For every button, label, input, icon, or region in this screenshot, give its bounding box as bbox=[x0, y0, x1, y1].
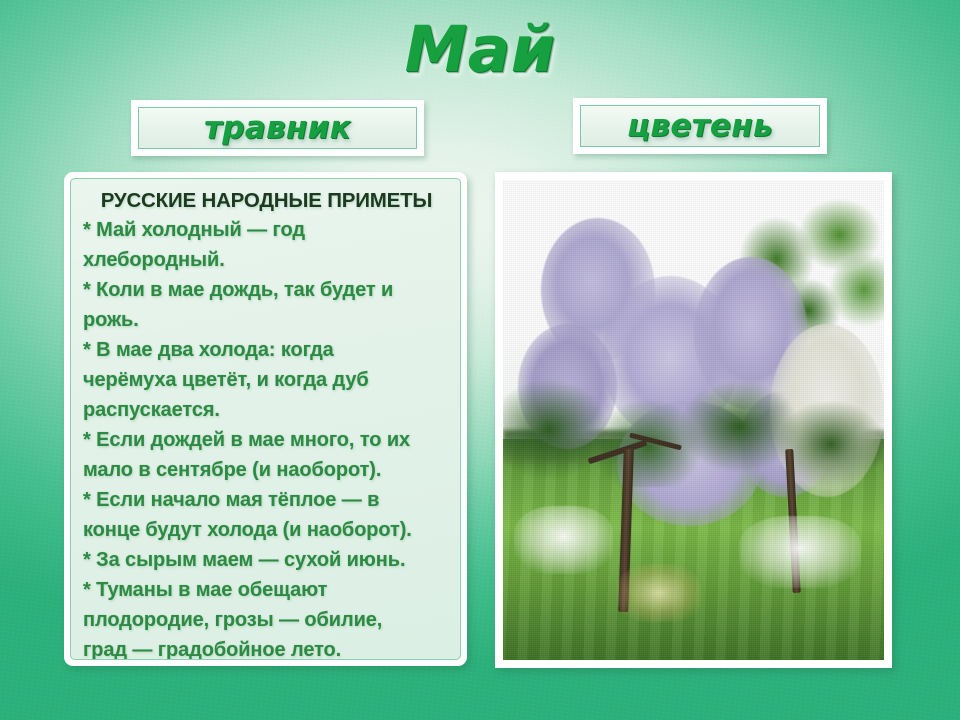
label-box-travnik: травник bbox=[131, 100, 424, 156]
proverb-line: черёмуха цветёт, и когда дуб bbox=[83, 365, 450, 395]
lilac-garden-photo bbox=[503, 180, 884, 660]
proverb-line: хлебородный. bbox=[83, 245, 450, 275]
label-box-tsveten: цветень bbox=[573, 98, 827, 154]
proverb-line: мало в сентябре (и наоборот). bbox=[83, 455, 450, 485]
proverb-line: * Если начало мая тёплое — в bbox=[83, 485, 450, 515]
label-text-tsveten: цветень bbox=[627, 108, 773, 144]
proverbs-heading: РУССКИЕ НАРОДНЫЕ ПРИМЕТЫ bbox=[83, 187, 450, 215]
proverb-line: град — градобойное лето. bbox=[83, 635, 450, 660]
proverb-line: * Если дождей в мае много, то их bbox=[83, 425, 450, 455]
photo-frame bbox=[495, 172, 892, 668]
proverb-line: * Туманы в мае обещают bbox=[83, 575, 450, 605]
photo-grain bbox=[503, 180, 884, 660]
proverbs-list: * Май холодный — годхлебородный.* Коли в… bbox=[83, 215, 450, 660]
proverb-line: рожь. bbox=[83, 305, 450, 335]
proverb-line: * За сырым маем — сухой июнь. bbox=[83, 545, 450, 575]
proverbs-frame: РУССКИЕ НАРОДНЫЕ ПРИМЕТЫ * Май холодный … bbox=[70, 178, 461, 660]
label-box-inner: травник bbox=[138, 107, 417, 149]
proverb-line: * Май холодный — год bbox=[83, 215, 450, 245]
proverb-line: * В мае два холода: когда bbox=[83, 335, 450, 365]
label-text-travnik: травник bbox=[204, 110, 351, 146]
label-box-inner: цветень bbox=[580, 105, 820, 147]
proverb-line: * Коли в мае дождь, так будет и bbox=[83, 275, 450, 305]
proverbs-panel: РУССКИЕ НАРОДНЫЕ ПРИМЕТЫ * Май холодный … bbox=[64, 172, 467, 666]
proverb-line: плодородие, грозы — обилие, bbox=[83, 605, 450, 635]
proverb-line: распускается. bbox=[83, 395, 450, 425]
page-title: Май bbox=[0, 18, 960, 81]
proverb-line: конце будут холода (и наоборот). bbox=[83, 515, 450, 545]
